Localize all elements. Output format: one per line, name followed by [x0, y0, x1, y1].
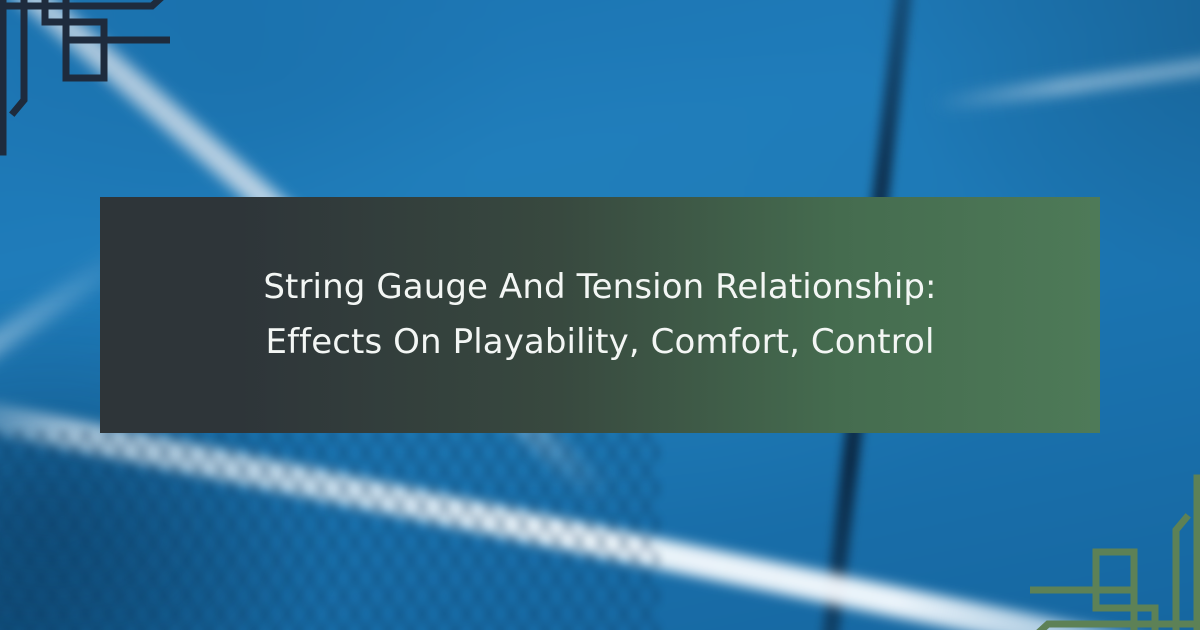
page-title-line-1: String Gauge And Tension Relationship:: [263, 260, 936, 315]
page-title-line-2: Effects On Playability, Comfort, Control: [266, 315, 935, 370]
court-fence-texture: [0, 430, 660, 630]
title-panel: String Gauge And Tension Relationship: E…: [100, 197, 1100, 433]
share-card: String Gauge And Tension Relationship: E…: [0, 0, 1200, 630]
